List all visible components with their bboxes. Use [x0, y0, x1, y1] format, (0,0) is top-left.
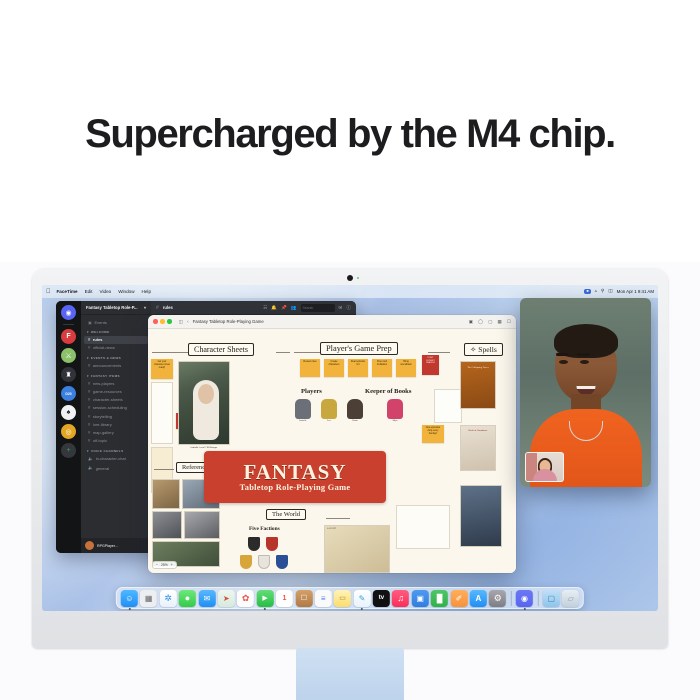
character-portrait-elf[interactable]	[178, 361, 230, 445]
server-icon-fantasy[interactable]: F	[61, 329, 76, 344]
photos-icon[interactable]: ✿	[237, 590, 254, 607]
sidebar-item-label: rules	[93, 337, 103, 342]
wifi-icon[interactable]: ▵	[595, 289, 597, 294]
discord-channel-header: # rules ☵ 🔔 📌 👥 Search ✉ ⓘ	[151, 301, 356, 315]
sidebar-item-session-scheduling[interactable]: # session-scheduling	[84, 404, 148, 412]
messages-icon[interactable]: ●	[179, 590, 196, 607]
sidebar-item-label: off-topic	[93, 438, 107, 443]
sidebar-item-label: session-scheduling	[93, 405, 127, 410]
downloads-folder-icon[interactable]: ▢	[543, 590, 560, 607]
zoom-out-button[interactable]: −	[156, 563, 158, 567]
sidebar-item-label: in-character-chat	[96, 456, 126, 461]
channel-header-actions: ☵ 🔔 📌 👥 Search ✉ ⓘ	[263, 304, 351, 312]
pin-icon[interactable]: 📌	[281, 305, 287, 311]
sidebar-item-label: Events	[94, 320, 106, 325]
sidebar-item-new-players[interactable]: # new-players	[84, 379, 148, 387]
reference-image-armor[interactable]	[152, 511, 182, 539]
inbox-icon[interactable]: ✉	[339, 305, 343, 311]
rules-document-card[interactable]	[434, 389, 462, 423]
sticky-note-review-rules[interactable]: Review rules	[300, 359, 320, 377]
rail-divider	[63, 324, 74, 325]
freeform-tool-buttons: ▣ ◯ ▢ ▦ ☐	[469, 319, 511, 325]
sidebar-item-label: lore-library	[93, 422, 112, 427]
maximize-button[interactable]	[167, 319, 172, 324]
subsection-title-five-factions: Five Factions	[244, 525, 285, 533]
sidebar-item-general[interactable]: 🔈 general	[84, 463, 148, 472]
faction-crest-crimson-banner[interactable]	[266, 537, 278, 551]
menu-item-facetime[interactable]: FaceTime	[57, 289, 78, 294]
sticky-note-side[interactable]: Get your character sheet ready!	[151, 359, 173, 379]
world-lore-text[interactable]	[396, 505, 450, 549]
chevron-down-icon: ▾	[87, 449, 89, 453]
sidebar-item-label: new-players	[93, 381, 115, 386]
shapes-icon[interactable]: ◯	[478, 319, 483, 325]
keeper-figure-miya[interactable]: Miya	[386, 399, 404, 422]
webcam-icon	[347, 275, 353, 281]
freeform-toolbar: ◫ ‹ Fantasy Tabletop Role-Playing Game ▣…	[148, 315, 516, 329]
divider	[276, 352, 290, 353]
sidebar-item-label: general	[96, 466, 109, 471]
facetime-icon[interactable]: ▶	[257, 590, 274, 607]
sidebar-item-storytelling[interactable]: # storytelling	[84, 412, 148, 420]
threads-icon[interactable]: ☵	[263, 305, 267, 311]
hash-icon: #	[88, 438, 90, 443]
category-label: WELCOME	[91, 330, 110, 334]
hash-icon: #	[88, 405, 90, 410]
sticky-note-reminder[interactable]: New episodes drop every Sunday!	[422, 425, 444, 443]
sidebar-item-lore-library[interactable]: # lore-library	[84, 420, 148, 428]
notes-icon[interactable]: ▭	[334, 590, 351, 607]
hash-icon: #	[88, 381, 90, 386]
media-icon[interactable]: ☐	[507, 319, 511, 325]
sidebar-item-rules[interactable]: # rules	[84, 336, 148, 344]
map-label: SAVANT	[327, 527, 336, 530]
player-figure-brian[interactable]: Brian	[346, 399, 364, 422]
back-icon[interactable]: ‹	[187, 319, 189, 324]
menu-item-window[interactable]: Window	[118, 289, 134, 294]
macos-menu-bar:  FaceTime Edit Video Window Help ■ ▵ ⚲ …	[42, 285, 658, 298]
category-label: EVENTS & NEWS	[91, 356, 121, 360]
discord-home-icon[interactable]: ◉	[61, 305, 76, 320]
player-figure-leo[interactable]: Leo	[320, 399, 338, 422]
channel-category-events-news[interactable]: ▾ EVENTS & NEWS	[87, 356, 148, 360]
sidebar-item-label: map-gallery	[93, 430, 114, 435]
hash-icon: #	[88, 397, 90, 402]
faction-crest-deep-sea-covenant[interactable]	[276, 555, 288, 569]
minimize-button[interactable]	[160, 319, 165, 324]
caller-eye-right	[580, 360, 589, 364]
caller-eyebrow-left	[556, 353, 569, 356]
facetime-video-window[interactable]	[520, 298, 651, 487]
category-label: FANTASY ITEMS	[91, 374, 120, 378]
spell-book-title: The Collapsing Tower	[464, 366, 492, 369]
player-name: Leo	[320, 420, 338, 422]
server-icon-d20[interactable]: D20	[61, 386, 76, 401]
sidebar-item-off-topic[interactable]: # off-topic	[84, 437, 148, 445]
insert-icon[interactable]: ▣	[469, 319, 473, 325]
mail-icon[interactable]: ✉	[198, 590, 215, 607]
world-map-image[interactable]: SAVANT	[324, 525, 390, 573]
finder-icon[interactable]: ☺	[121, 590, 138, 607]
character-caption: Isabelle, Level 7 Elf Ranger	[178, 447, 230, 449]
server-name-label: Fantasy Tabletop Role-P...	[86, 305, 138, 310]
sidebar-item-label: official-news	[93, 345, 115, 350]
chevron-down-icon: ▾	[87, 330, 89, 334]
spell-book-cover-1[interactable]: The Collapsing Tower	[460, 361, 496, 409]
section-title-the-world: The World	[266, 509, 306, 520]
menu-item-edit[interactable]: Edit	[85, 289, 93, 294]
discord-channel-list[interactable]: ▣ Events ▾ WELCOME # rules #	[81, 315, 151, 538]
category-label: VOICE CHANNELS	[91, 449, 124, 453]
server-icon-white[interactable]: ♠	[61, 405, 76, 420]
headline-section: Supercharged by the M4 chip.	[0, 0, 700, 262]
speaker-icon: 🔈	[88, 456, 93, 462]
imac-bezel:  FaceTime Edit Video Window Help ■ ▵ ⚲ …	[32, 268, 668, 648]
channel-category-voice-channels[interactable]: ▾ VOICE CHANNELS	[87, 449, 148, 453]
safari-icon[interactable]: ✲	[160, 590, 177, 607]
numbers-icon[interactable]: █	[431, 590, 448, 607]
hash-icon: #	[88, 363, 90, 368]
spell-artwork-pillars[interactable]	[460, 485, 502, 547]
chevron-down-icon[interactable]: ▾	[144, 305, 146, 310]
camera-indicator-led	[357, 277, 359, 279]
divider	[152, 352, 188, 353]
hash-icon: #	[88, 389, 90, 394]
sticky-note-read-episode[interactable]: Read episode 9-1	[348, 359, 368, 377]
close-button[interactable]	[153, 319, 158, 324]
freeform-icon[interactable]: ✎	[354, 590, 371, 607]
contacts-icon[interactable]: ☐	[295, 590, 312, 607]
macos-dock[interactable]: ☺ ▦ ✲ ● ✉ ➤ ✿ ▶ 1 ☐ ≡ ▭ ✎ tv ♫ ▣ █ ✐ A ⚙	[116, 587, 584, 609]
help-icon[interactable]: ⓘ	[346, 305, 351, 311]
calendar-icon: ▣	[88, 320, 92, 325]
menu-item-video[interactable]: Video	[100, 289, 112, 294]
screen-share-icon[interactable]: ■	[584, 289, 590, 295]
hash-icon: #	[88, 430, 90, 435]
channel-category-welcome[interactable]: ▾ WELCOME	[87, 330, 148, 334]
divider	[154, 469, 174, 470]
members-icon[interactable]: 👥	[291, 305, 297, 311]
subsection-title-players: Players	[296, 387, 327, 396]
window-controls[interactable]	[153, 319, 172, 324]
reminders-icon[interactable]: ≡	[315, 590, 332, 607]
caller-eyebrow-right	[577, 353, 590, 356]
sticky-note-prep-invitations[interactable]: Prep card invitations	[372, 359, 392, 377]
sidebar-item-announcements[interactable]: # announcements	[84, 362, 148, 370]
banner-subtitle: Tabletop Role-Playing Game	[240, 484, 351, 492]
search-input[interactable]: Search	[301, 304, 335, 312]
freeform-canvas[interactable]: Character Sheets Player's Game Prep ✧ Sp…	[148, 329, 516, 573]
player-name: Isabelle	[294, 420, 312, 422]
sidebar-icon[interactable]: ◫	[179, 319, 183, 325]
discord-channel-sidebar: Fantasy Tabletop Role-P... ▾ ▣ Events ▾ …	[81, 301, 151, 553]
sidebar-item-label: storytelling	[93, 414, 112, 419]
calendar-icon[interactable]: 1	[276, 590, 293, 607]
channel-category-fantasy-items[interactable]: ▾ FANTASY ITEMS	[87, 374, 148, 378]
caller-eye-left	[559, 360, 568, 364]
apple-logo-icon[interactable]: 	[46, 289, 51, 295]
fantasy-title-banner[interactable]: FANTASY Tabletop Role-Playing Game	[204, 451, 386, 503]
trash-icon[interactable]: ▱	[562, 590, 579, 607]
discord-server-name[interactable]: Fantasy Tabletop Role-P... ▾	[81, 301, 151, 315]
divider	[428, 352, 450, 353]
maps-icon[interactable]: ➤	[218, 590, 235, 607]
facetime-self-view[interactable]	[525, 452, 564, 482]
avatar[interactable]	[85, 541, 94, 550]
freeform-document-title: Fantasy Tabletop Role-Playing Game	[193, 319, 264, 324]
sidebar-item-events[interactable]: ▣ Events	[84, 318, 148, 326]
menu-bar-status-items: ■ ▵ ⚲ ◫ Mon Apr 1 9:41 AM	[584, 289, 654, 295]
sidebar-item-in-character-chat[interactable]: 🔈 in-character-chat	[84, 454, 148, 463]
imac-device:  FaceTime Edit Video Window Help ■ ▵ ⚲ …	[32, 268, 668, 648]
dock-divider	[537, 591, 538, 606]
add-server-button[interactable]: +	[61, 443, 76, 458]
hash-icon: #	[88, 414, 90, 419]
section-title-players-game-prep: Player's Game Prep	[320, 342, 398, 355]
server-icon-gold[interactable]: ◎	[61, 424, 76, 439]
banner-title: FANTASY	[243, 462, 346, 483]
faction-crest-order-of-the-blade[interactable]	[248, 537, 260, 551]
discord-server-rail: ◉ F ⚔ ♜ D20 ♠ ◎ +	[56, 301, 81, 553]
chevron-down-icon: ▾	[87, 356, 89, 360]
divider	[294, 352, 320, 353]
server-icon-dark[interactable]: ♜	[61, 367, 76, 382]
sidebar-item-character-sheets[interactable]: # character-sheets	[84, 396, 148, 404]
player-figure-isabelle[interactable]: Isabelle	[294, 399, 312, 422]
section-title-spells: ✧ Spells	[464, 343, 503, 356]
music-icon[interactable]: ♫	[392, 590, 409, 607]
menu-item-help[interactable]: Help	[142, 289, 151, 294]
discord-icon[interactable]: ◉	[516, 590, 533, 607]
discord-username: RPGPlayer...	[97, 544, 118, 548]
control-center-icon[interactable]: ◫	[608, 289, 612, 294]
search-placeholder: Search	[303, 306, 314, 310]
keynote-icon[interactable]: ▣	[412, 590, 429, 607]
faction-crest-pale-moon[interactable]	[258, 555, 270, 569]
current-channel-label: rules	[163, 305, 173, 310]
hash-icon: #	[156, 305, 159, 311]
hash-icon: #	[88, 337, 90, 342]
zoom-level-label: 25%	[161, 563, 168, 567]
freeform-window[interactable]: ◫ ‹ Fantasy Tabletop Role-Playing Game ▣…	[148, 315, 516, 573]
hash-icon: #	[88, 422, 90, 427]
system-settings-icon[interactable]: ⚙	[489, 590, 506, 607]
faction-crest-golden-sun[interactable]	[240, 555, 252, 569]
sticky-note-alert[interactable]: DON'T FORGET SNACKS!	[422, 355, 439, 375]
section-title-character-sheets: Character Sheets	[188, 343, 254, 356]
reference-image-1[interactable]	[152, 479, 180, 509]
apple-tv-icon[interactable]: tv	[373, 590, 390, 607]
subsection-title-keeper-of-books: Keeper of Books	[360, 387, 416, 396]
search-icon[interactable]: ⚲	[601, 289, 604, 294]
menu-bar-clock[interactable]: Mon Apr 1 9:41 AM	[617, 289, 654, 294]
discord-user-panel[interactable]: RPGPlayer...	[81, 538, 151, 553]
imac-stand	[296, 648, 404, 700]
hash-icon: #	[88, 345, 90, 350]
sticky-note-create-characters[interactable]: Create characters	[324, 359, 344, 377]
imac-screen:  FaceTime Edit Video Window Help ■ ▵ ⚲ …	[42, 285, 658, 611]
reference-image-helmets[interactable]	[184, 511, 220, 539]
zoom-in-button[interactable]: +	[171, 563, 173, 567]
launchpad-icon[interactable]: ▦	[140, 590, 157, 607]
sidebar-item-label: announcements	[93, 363, 121, 368]
sticky-note-icon[interactable]: ▦	[498, 319, 502, 325]
divider	[326, 518, 350, 519]
dock-divider	[511, 591, 512, 606]
sidebar-item-label: character-sheets	[93, 397, 123, 402]
canvas-zoom-control[interactable]: − 25% +	[152, 561, 177, 569]
chevron-down-icon: ▾	[87, 374, 89, 378]
sidebar-item-official-news[interactable]: # official-news	[84, 344, 148, 352]
spell-book-title: Book of Abundance	[464, 429, 492, 432]
self-view-body	[533, 469, 557, 481]
sidebar-item-map-gallery[interactable]: # map-gallery	[84, 428, 148, 436]
spell-book-cover-2[interactable]: Book of Abundance	[460, 425, 496, 471]
sidebar-item-game-resources[interactable]: # game-resources	[84, 387, 148, 395]
server-icon-green[interactable]: ⚔	[61, 348, 76, 363]
text-icon[interactable]: ▢	[488, 319, 492, 325]
app-store-icon[interactable]: A	[470, 590, 487, 607]
sticky-note-bring-soundtrack[interactable]: Bring soundtrack	[396, 359, 416, 377]
pages-icon[interactable]: ✐	[450, 590, 467, 607]
page-title: Supercharged by the M4 chip.	[85, 112, 615, 157]
player-name: Brian	[346, 420, 364, 422]
character-sheet-form[interactable]	[151, 382, 173, 444]
speaker-icon: 🔈	[88, 465, 93, 471]
sidebar-item-label: game-resources	[93, 389, 122, 394]
notification-bell-icon[interactable]: 🔔	[271, 305, 277, 311]
keeper-name: Miya	[386, 420, 404, 422]
